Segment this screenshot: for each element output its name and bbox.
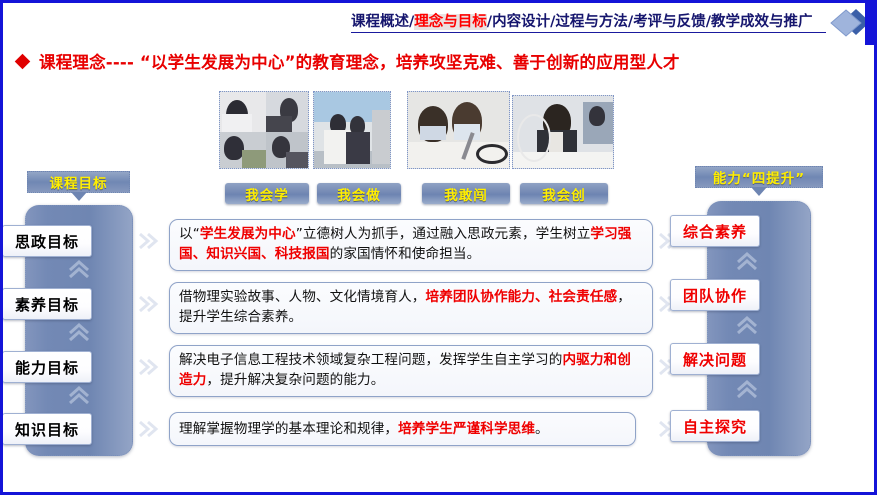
photo-student-demonstration bbox=[512, 95, 614, 169]
goal-chip-ability-label: 能力目标 bbox=[15, 357, 79, 378]
up-chevron-icon-3 bbox=[66, 385, 92, 405]
goal-chip-knowledge[interactable]: 知识目标 bbox=[2, 413, 92, 445]
skill-button-2[interactable]: 我会做 bbox=[317, 183, 401, 204]
breadcrumb-item-2[interactable]: 内容设计 bbox=[492, 14, 550, 30]
photo-students-soldering bbox=[407, 91, 510, 169]
up-chevron-icon-1 bbox=[66, 259, 92, 279]
ability-chip-self-inquiry[interactable]: 自主探究 bbox=[670, 410, 760, 442]
breadcrumb-item-5[interactable]: 教学成效与推广 bbox=[711, 14, 813, 30]
right-chevron-icon-4 bbox=[137, 419, 163, 439]
photo-students-lab-collage bbox=[219, 91, 309, 169]
skill-button-3-label: 我敢闯 bbox=[444, 184, 488, 204]
page-title-text: 课程理念---- “以学生发展为中心”的教育理念，培养攻坚克难、善于创新的应用型… bbox=[39, 49, 680, 73]
right-chevron-icon-1 bbox=[137, 231, 163, 251]
goal-chip-literacy-label: 素养目标 bbox=[15, 294, 79, 315]
skill-button-4-label: 我会创 bbox=[542, 184, 586, 204]
up-chevron-icon-2 bbox=[66, 322, 92, 342]
breadcrumb-item-0[interactable]: 课程概述 bbox=[351, 14, 409, 30]
statement-literacy-text: 借物理实验故事、人物、文化情境育人，培养团队协作能力、社会责任感，提升学生综合素… bbox=[179, 289, 631, 325]
breadcrumb-text: 课程概述/理念与目标/内容设计/过程与方法/考评与反馈/教学成效与推广 bbox=[351, 14, 812, 32]
skill-button-3[interactable]: 我敢闯 bbox=[422, 183, 510, 204]
skill-button-2-label: 我会做 bbox=[337, 184, 381, 204]
right-chevron-icon-3 bbox=[137, 357, 163, 377]
goal-chip-ideology[interactable]: 思政目标 bbox=[2, 225, 92, 257]
breadcrumb-item-3[interactable]: 过程与方法 bbox=[555, 14, 628, 30]
diamond-bullet-icon bbox=[15, 53, 31, 69]
photo-students-equipment bbox=[313, 91, 391, 169]
skill-button-1[interactable]: 我会学 bbox=[225, 183, 309, 204]
ability-chip-comprehensive[interactable]: 综合素养 bbox=[670, 215, 760, 247]
section-breadcrumb: 课程概述/理念与目标/内容设计/过程与方法/考评与反馈/教学成效与推广 bbox=[351, 7, 826, 33]
statement-knowledge-text: 理解掌握物理学的基本理论和规律，培养学生严谨科学思维。 bbox=[179, 421, 549, 437]
right-chevron-icon-2 bbox=[137, 294, 163, 314]
goal-chip-knowledge-label: 知识目标 bbox=[15, 419, 79, 440]
left-column-header: 课程目标 bbox=[27, 171, 130, 193]
ability-chip-self-inquiry-label: 自主探究 bbox=[683, 416, 747, 437]
right-column-notch-icon bbox=[751, 187, 767, 196]
goal-chip-ideology-label: 思政目标 bbox=[15, 231, 79, 252]
statement-literacy: 借物理实验故事、人物、文化情境育人，培养团队协作能力、社会责任感，提升学生综合素… bbox=[169, 282, 653, 334]
statement-ability: 解决电子信息工程技术领域复杂工程问题，发挥学生自主学习的内驱力和创造力，提升解决… bbox=[169, 345, 653, 397]
skill-button-4[interactable]: 我会创 bbox=[520, 183, 608, 204]
up-chevron-icon-6 bbox=[734, 379, 760, 399]
skill-button-1-label: 我会学 bbox=[245, 184, 289, 204]
ability-chip-comprehensive-label: 综合素养 bbox=[683, 221, 747, 242]
ability-chip-problem-solving[interactable]: 解决问题 bbox=[670, 343, 760, 375]
statement-ideology: 以“学生发展为中心”立德树人为抓手，通过融入思政元素，学生树立学习强国、知识兴国… bbox=[169, 219, 653, 271]
breadcrumb-item-1[interactable]: 理念与目标 bbox=[414, 14, 487, 30]
right-column-header-label: 能力“四提升” bbox=[713, 167, 805, 187]
statement-ability-text: 解决电子信息工程技术领域复杂工程问题，发挥学生自主学习的内驱力和创造力，提升解决… bbox=[179, 352, 631, 388]
breadcrumb-item-4[interactable]: 考评与反馈 bbox=[633, 14, 706, 30]
slide-canvas: 课程概述/理念与目标/内容设计/过程与方法/考评与反馈/教学成效与推广 课程理念… bbox=[0, 0, 877, 495]
page-title: 课程理念---- “以学生发展为中心”的教育理念，培养攻坚克难、善于创新的应用型… bbox=[17, 49, 680, 73]
left-column-header-label: 课程目标 bbox=[50, 172, 108, 192]
statement-ideology-text: 以“学生发展为中心”立德树人为抓手，通过融入思政元素，学生树立学习强国、知识兴国… bbox=[179, 226, 632, 262]
statement-knowledge: 理解掌握物理学的基本理论和规律，培养学生严谨科学思维。 bbox=[169, 412, 636, 446]
up-chevron-icon-5 bbox=[734, 315, 760, 335]
ability-chip-problem-solving-label: 解决问题 bbox=[683, 349, 747, 370]
ability-chip-teamwork[interactable]: 团队协作 bbox=[670, 279, 760, 311]
up-chevron-icon-4 bbox=[734, 251, 760, 271]
right-column-header: 能力“四提升” bbox=[695, 166, 823, 188]
ability-chip-teamwork-label: 团队协作 bbox=[683, 285, 747, 306]
left-column-notch-icon bbox=[71, 192, 87, 201]
goal-chip-literacy[interactable]: 素养目标 bbox=[2, 288, 92, 320]
goal-chip-ability[interactable]: 能力目标 bbox=[2, 351, 92, 383]
right-accent-bar bbox=[865, 3, 874, 45]
